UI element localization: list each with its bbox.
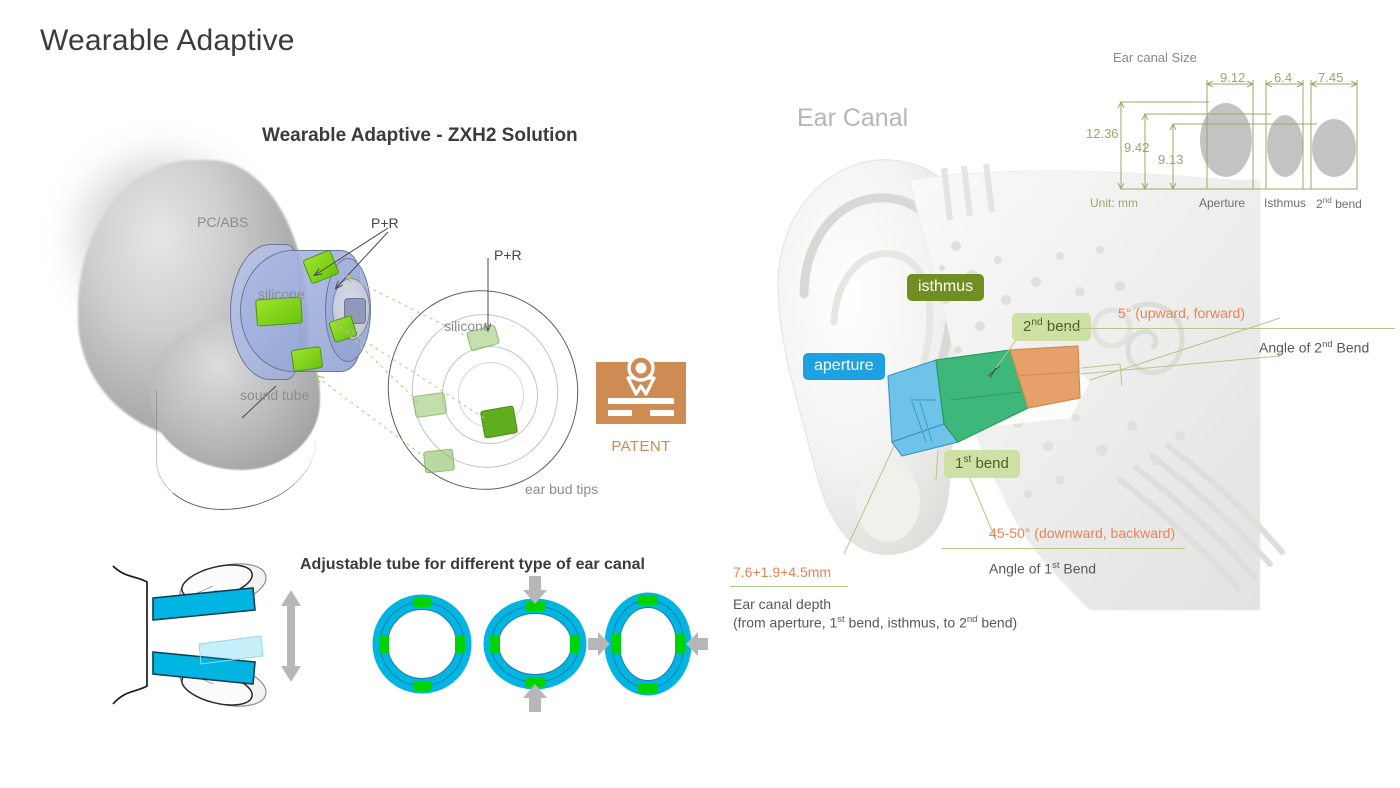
round-ring: [379, 597, 465, 691]
size-height-aperture: 12.36: [1086, 126, 1119, 141]
label-pr-left: P+R: [371, 215, 399, 231]
badge-second-bend: 2nd bend: [1012, 313, 1091, 341]
vertically-compressed-ring: [490, 576, 580, 712]
horizontally-compressed-ring: [588, 595, 708, 693]
size-category-aperture: Aperture: [1199, 196, 1245, 210]
label-pr-right: P+R: [494, 247, 522, 263]
angle-second-bend-caption: Angle of 2nd Bend: [1259, 339, 1369, 356]
certificate-line-3: [650, 410, 674, 416]
angle-first-bend-caption: Angle of 1st Bend: [989, 560, 1096, 577]
size-category-second-bend: 2nd bend: [1316, 196, 1362, 211]
slide-canvas: Wearable Adaptive Wearable Adaptive - ZX…: [0, 0, 1400, 788]
angle-second-bend-rule: [1060, 328, 1395, 329]
patent-badge: PATENT: [596, 352, 688, 452]
size-height-second-bend: 9.13: [1158, 152, 1183, 167]
angle-second-bend-value: 5° (upward, forward): [1118, 305, 1245, 321]
size-height-isthmus: 9.42: [1124, 140, 1149, 155]
page-title: Wearable Adaptive: [40, 24, 295, 58]
adjustable-tube-title: Adjustable tube for different type of ea…: [300, 556, 645, 574]
left-panel-title: Wearable Adaptive - ZXH2 Solution: [262, 125, 578, 147]
ear-canal-depth-rule: [730, 586, 848, 587]
label-ear-bud-tips: ear bud tips: [525, 481, 598, 497]
angle-first-bend-value: 45-50° (downward, backward): [989, 525, 1175, 541]
size-category-isthmus: Isthmus: [1264, 196, 1306, 210]
label-pc-abs: PC/ABS: [197, 214, 248, 230]
label-silicone-tip: silicone: [444, 318, 491, 334]
ear-canal-heading: Ear Canal: [797, 104, 908, 133]
patent-label: PATENT: [596, 438, 686, 455]
size-width-isthmus: 6.4: [1274, 70, 1292, 85]
badge-isthmus: isthmus: [907, 274, 984, 301]
ear-canal-depth-caption-2: (from aperture, 1st bend, isthmus, to 2n…: [733, 614, 1017, 631]
ear-canal-anatomy-illustration: [760, 150, 1280, 630]
ear-canal-depth-value: 7.6+1.9+4.5mm: [733, 564, 831, 580]
adjustable-tube-cross-section: [95, 560, 335, 710]
label-silicone-tube: silicone: [258, 286, 305, 302]
label-sound-tube: sound tube: [240, 387, 309, 403]
angle-first-bend-rule: [942, 548, 1185, 549]
earbud-exploded-diagram: [70, 150, 590, 520]
size-unit-label: Unit: mm: [1090, 196, 1138, 210]
certificate-line-2: [608, 410, 632, 416]
size-width-second-bend: 7.45: [1318, 70, 1343, 85]
certificate-line-1: [608, 398, 674, 404]
ear-canal-depth-caption-1: Ear canal depth: [733, 596, 831, 612]
badge-first-bend: 1st bend: [944, 450, 1020, 478]
size-width-aperture: 9.12: [1220, 70, 1245, 85]
earbud-leader-lines: [70, 150, 590, 520]
adjustable-ring-states: [370, 588, 700, 700]
badge-aperture: aperture: [803, 353, 885, 380]
